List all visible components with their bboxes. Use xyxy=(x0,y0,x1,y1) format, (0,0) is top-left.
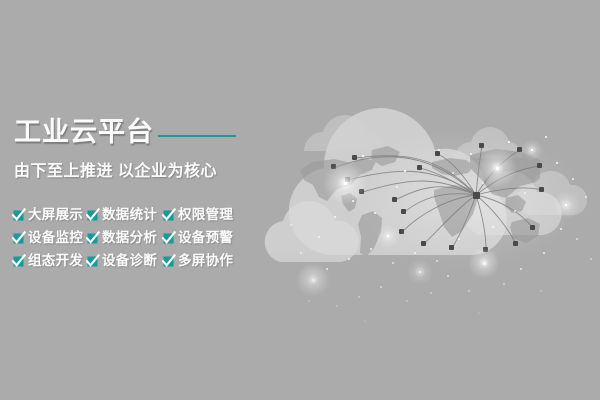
check-box-icon xyxy=(86,208,100,222)
center-haze xyxy=(342,128,582,268)
network-nodes xyxy=(331,143,544,252)
feature-label: 数据统计 xyxy=(102,208,157,222)
feature-item[interactable]: 设备监控 xyxy=(12,226,86,249)
cloud-mid-right xyxy=(464,171,562,235)
sparkle-field xyxy=(290,136,592,322)
world-map xyxy=(300,146,554,257)
cloud-far-right xyxy=(516,171,587,215)
feature-item[interactable]: 数据分析 xyxy=(86,226,162,249)
check-box-icon xyxy=(86,254,100,268)
hero-subtitle: 由下至上推进 以企业为核心 xyxy=(14,157,264,181)
feature-item[interactable]: 多屏协作 xyxy=(162,249,233,272)
feature-list: 大屏展示数据统计权限管理设备监控数据分析设备预警组态开发设备诊断多屏协作 xyxy=(12,203,233,272)
feature-label: 大屏展示 xyxy=(28,208,83,222)
cloud-back-left xyxy=(304,115,384,151)
cloud-front-left xyxy=(265,201,359,262)
check-box-icon xyxy=(12,254,26,268)
bottom-fade xyxy=(260,250,600,360)
hero-copy: 工业云平台 由下至上推进 以企业为核心 xyxy=(14,118,264,181)
industrial-cloud-platform-banner: 工业云平台 由下至上推进 以企业为核心 大屏展示数据统计权限管理设备监控数据分析… xyxy=(0,0,600,400)
feature-item[interactable]: 组态开发 xyxy=(12,249,86,272)
check-box-icon xyxy=(162,254,176,268)
check-box-icon xyxy=(86,231,100,245)
cloud-back-right xyxy=(455,127,523,158)
feature-item[interactable]: 设备诊断 xyxy=(86,249,162,272)
feature-label: 组态开发 xyxy=(28,254,83,268)
cloud-main xyxy=(289,108,507,255)
check-box-icon xyxy=(162,208,176,222)
check-box-icon xyxy=(12,208,26,222)
cloud-network-illustration xyxy=(0,0,600,400)
page-title: 工业云平台 xyxy=(14,118,154,146)
feature-item[interactable]: 权限管理 xyxy=(162,203,233,226)
feature-item[interactable]: 大屏展示 xyxy=(12,203,86,226)
connection-arcs xyxy=(334,146,542,250)
check-box-icon xyxy=(162,231,176,245)
title-row: 工业云平台 xyxy=(14,118,264,146)
feature-item[interactable]: 设备预警 xyxy=(162,226,233,249)
feature-label: 设备监控 xyxy=(28,231,83,245)
feature-label: 数据分析 xyxy=(102,231,157,245)
feature-label: 设备预警 xyxy=(178,231,233,245)
feature-item[interactable]: 数据统计 xyxy=(86,203,162,226)
feature-label: 多屏协作 xyxy=(178,254,233,268)
check-box-icon xyxy=(12,231,26,245)
title-rule-icon xyxy=(158,135,236,137)
feature-label: 设备诊断 xyxy=(102,254,157,268)
feature-label: 权限管理 xyxy=(178,208,233,222)
